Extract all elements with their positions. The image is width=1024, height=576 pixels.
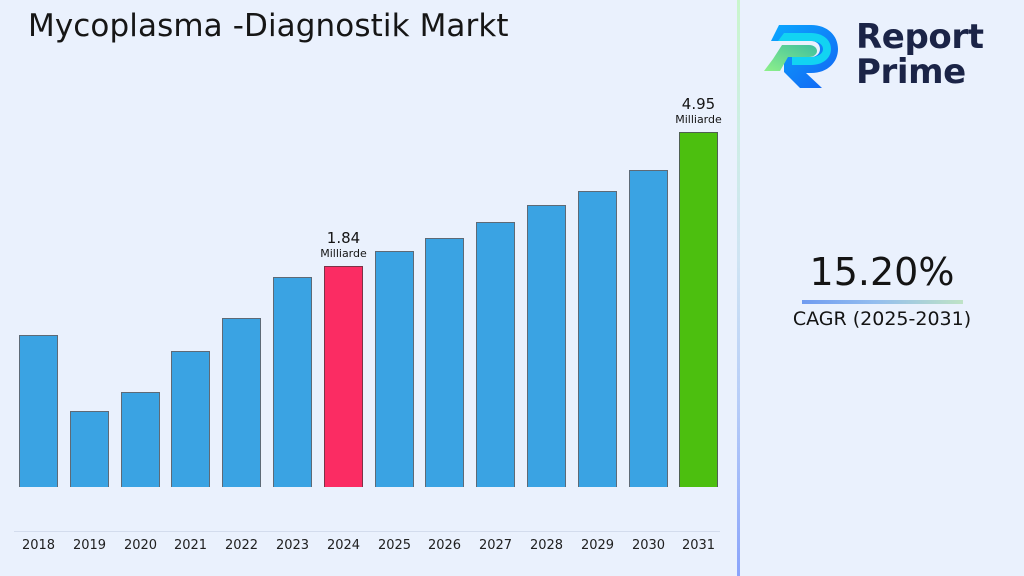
report-prime-logo: Report Prime — [762, 12, 1008, 98]
bar-rect-2030[interactable] — [629, 170, 668, 487]
bar-rect-2025[interactable] — [375, 251, 414, 487]
x-tick-label-2031: 2031 — [679, 538, 718, 553]
bar-2026[interactable] — [425, 0, 464, 487]
bar-rect-2027[interactable] — [476, 222, 515, 487]
cagr-divider-rule — [802, 300, 963, 304]
bar-label-value-2024: 1.84 — [320, 231, 367, 247]
x-tick-label-2024: 2024 — [324, 538, 363, 553]
cagr-block: 15.20% CAGR (2025-2031) — [740, 252, 1024, 330]
brand-panel: Report Prime 15.20% CAGR (2025-2031) — [740, 0, 1024, 576]
bar-2027[interactable] — [476, 0, 515, 487]
x-tick-label-2030: 2030 — [629, 538, 668, 553]
chart-screenshot: Mycoplasma -Diagnostik Markt 20182019202… — [0, 0, 1024, 576]
x-tick-label-2026: 2026 — [425, 538, 464, 553]
chart-panel: Mycoplasma -Diagnostik Markt 20182019202… — [0, 0, 737, 576]
bar-2021[interactable] — [171, 0, 210, 487]
bar-2018[interactable] — [19, 0, 58, 487]
bar-rect-2023[interactable] — [273, 277, 312, 487]
bar-rect-2020[interactable] — [121, 392, 160, 487]
bar-2024[interactable]: 1.84Milliarde — [324, 0, 363, 487]
bar-2020[interactable] — [121, 0, 160, 487]
x-tick-label-2022: 2022 — [222, 538, 261, 553]
x-tick-label-2027: 2027 — [476, 538, 515, 553]
x-tick-label-2018: 2018 — [19, 538, 58, 553]
bar-2022[interactable] — [222, 0, 261, 487]
bar-rect-2018[interactable] — [19, 335, 58, 487]
bar-rect-2021[interactable] — [171, 351, 210, 487]
bar-2031[interactable]: 4.95Milliarde — [679, 0, 718, 487]
bar-rect-2022[interactable] — [222, 318, 261, 487]
bar-2028[interactable] — [527, 0, 566, 487]
x-tick-label-2023: 2023 — [273, 538, 312, 553]
x-tick-label-2025: 2025 — [375, 538, 414, 553]
bar-rect-2031[interactable] — [679, 132, 718, 487]
bar-label-2024: 1.84Milliarde — [320, 231, 367, 260]
logo-line-2: Prime — [856, 55, 984, 90]
x-axis-line — [14, 531, 720, 532]
cagr-value: 15.20% — [740, 252, 1024, 294]
cagr-caption: CAGR (2025-2031) — [740, 308, 1024, 330]
x-tick-label-2020: 2020 — [121, 538, 160, 553]
bar-label-unit-2024: Milliarde — [320, 248, 367, 260]
bar-2019[interactable] — [70, 0, 109, 487]
x-tick-label-2028: 2028 — [527, 538, 566, 553]
bar-label-unit-2031: Milliarde — [675, 114, 722, 126]
bar-2030[interactable] — [629, 0, 668, 487]
bar-rect-2028[interactable] — [527, 205, 566, 487]
bar-rect-2029[interactable] — [578, 191, 617, 487]
bar-2023[interactable] — [273, 0, 312, 487]
bar-label-value-2031: 4.95 — [675, 97, 722, 113]
bar-2029[interactable] — [578, 0, 617, 487]
report-prime-logomark-icon — [762, 15, 846, 95]
bar-rect-2019[interactable] — [70, 411, 109, 487]
logo-wordmark: Report Prime — [856, 20, 984, 91]
bar-label-2031: 4.95Milliarde — [675, 97, 722, 126]
x-tick-label-2029: 2029 — [578, 538, 617, 553]
x-tick-label-2021: 2021 — [171, 538, 210, 553]
bar-rect-2024[interactable] — [324, 266, 363, 487]
x-tick-label-2019: 2019 — [70, 538, 109, 553]
bar-2025[interactable] — [375, 0, 414, 487]
bar-chart-plot-area: 2018201920202021202220231.84Milliarde202… — [0, 0, 737, 532]
logo-line-1: Report — [856, 20, 984, 55]
bar-rect-2026[interactable] — [425, 238, 464, 487]
